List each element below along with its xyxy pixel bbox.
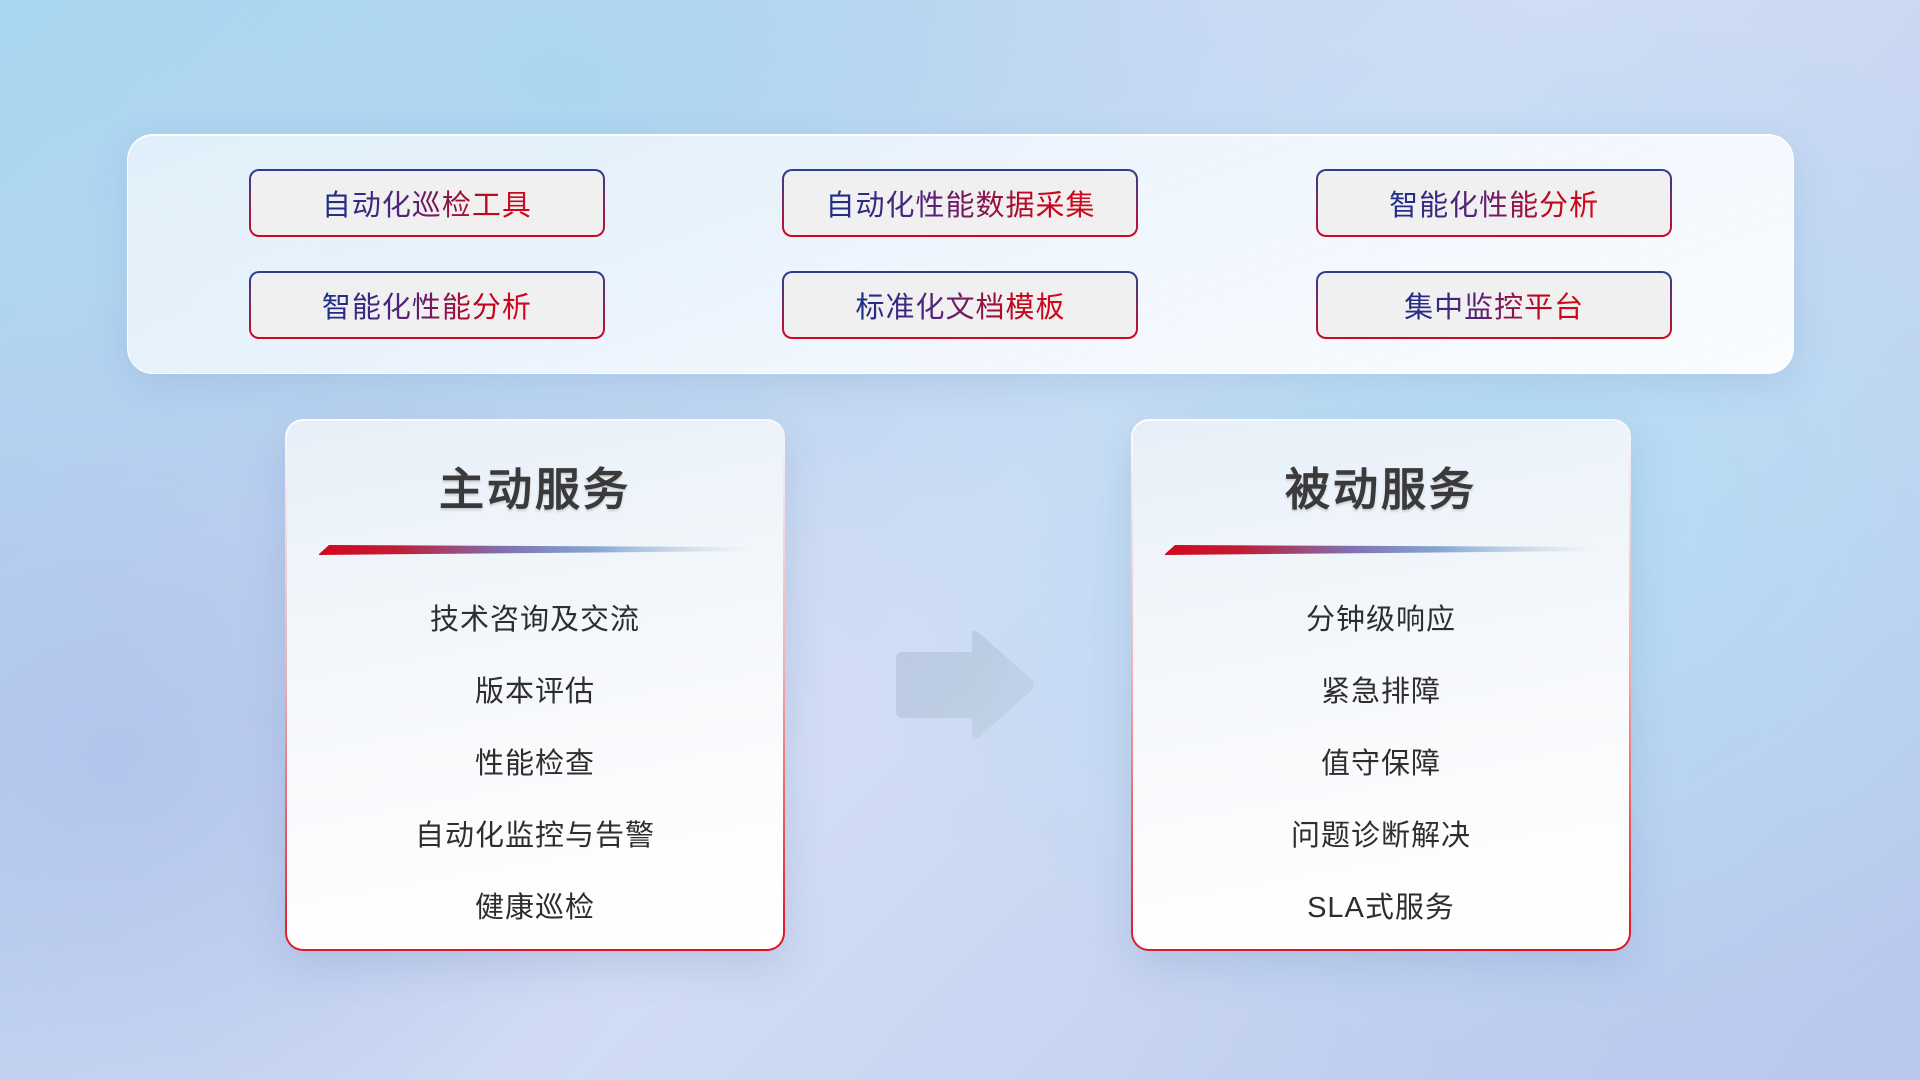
capability-tags-panel: 自动化巡检工具 自动化性能数据采集 智能化性能分析 智能化性能分析 标准化文档模… (127, 134, 1794, 374)
title-divider-icon (319, 542, 751, 558)
capability-tag-surface: 标准化文档模板 (784, 273, 1136, 337)
capability-tag-label: 标准化文档模板 (855, 284, 1065, 326)
capability-tag-surface: 智能化性能分析 (1318, 171, 1670, 235)
capability-tag-label: 集中监控平台 (1404, 284, 1584, 326)
capability-tag-grid: 自动化巡检工具 自动化性能数据采集 智能化性能分析 智能化性能分析 标准化文档模… (128, 135, 1793, 373)
capability-tag-label: 自动化性能数据采集 (825, 182, 1095, 224)
service-card-list: 分钟级响应 紧急排障 值守保障 问题诊断解决 SLA式服务 (1133, 584, 1629, 944)
list-item: 性能检查 (475, 728, 595, 800)
list-item: 分钟级响应 (1306, 584, 1456, 656)
list-item: 问题诊断解决 (1291, 800, 1471, 872)
service-card-proactive: 主动服务 技术咨询及交流 版本评估 性能检查 自动化监控与告警 健康巡检 (285, 419, 785, 951)
list-item: 值守保障 (1321, 728, 1441, 800)
title-divider-icon (1165, 542, 1597, 558)
capability-tag[interactable]: 自动化巡检工具 (249, 169, 605, 237)
capability-tag[interactable]: 集中监控平台 (1316, 271, 1672, 339)
capability-tag-label: 自动化巡检工具 (322, 182, 532, 224)
service-card-surface: 被动服务 分钟级响应 紧急排障 值守保障 问题诊断解决 SLA式服务 (1133, 421, 1629, 949)
capability-tag[interactable]: 自动化性能数据采集 (782, 169, 1138, 237)
capability-tag[interactable]: 智能化性能分析 (249, 271, 605, 339)
capability-tag-surface: 集中监控平台 (1318, 273, 1670, 337)
capability-tag-label: 智能化性能分析 (1389, 182, 1599, 224)
service-card-reactive: 被动服务 分钟级响应 紧急排障 值守保障 问题诊断解决 SLA式服务 (1131, 419, 1631, 951)
list-item: 健康巡检 (475, 872, 595, 944)
list-item: 紧急排障 (1321, 656, 1441, 728)
capability-tag-surface: 智能化性能分析 (251, 273, 603, 337)
service-card-surface: 主动服务 技术咨询及交流 版本评估 性能检查 自动化监控与告警 健康巡检 (287, 421, 783, 949)
list-item: SLA式服务 (1307, 872, 1455, 944)
capability-tag-surface: 自动化性能数据采集 (784, 171, 1136, 235)
capability-tag[interactable]: 智能化性能分析 (1316, 169, 1672, 237)
capability-tag[interactable]: 标准化文档模板 (782, 271, 1138, 339)
capability-tag-label: 智能化性能分析 (322, 284, 532, 326)
list-item: 技术咨询及交流 (430, 584, 640, 656)
service-card-title: 被动服务 (1285, 453, 1477, 518)
service-card-list: 技术咨询及交流 版本评估 性能检查 自动化监控与告警 健康巡检 (287, 584, 783, 944)
list-item: 自动化监控与告警 (415, 800, 655, 872)
service-card-title: 主动服务 (439, 453, 631, 518)
arrow-right-icon (884, 626, 1036, 744)
capability-tag-surface: 自动化巡检工具 (251, 171, 603, 235)
list-item: 版本评估 (475, 656, 595, 728)
